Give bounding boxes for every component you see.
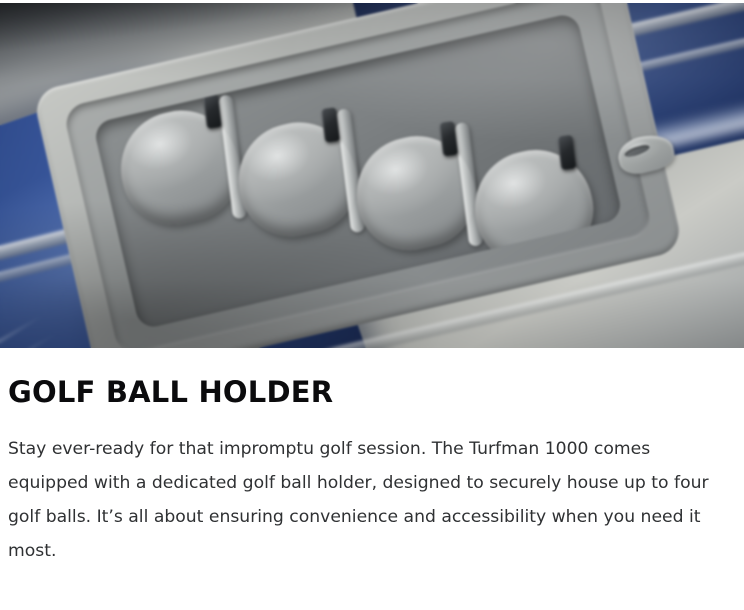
retaining-clip-4	[557, 135, 576, 171]
feature-description: Stay ever-ready for that impromptu golf …	[8, 409, 736, 568]
photo-canvas	[0, 3, 744, 348]
golf-ball-holder-photo	[0, 3, 744, 348]
text-content: GOLF BALL HOLDER Stay ever-ready for tha…	[0, 348, 744, 568]
product-feature-section: GOLF BALL HOLDER Stay ever-ready for tha…	[0, 0, 744, 610]
page-title: GOLF BALL HOLDER	[8, 348, 736, 409]
